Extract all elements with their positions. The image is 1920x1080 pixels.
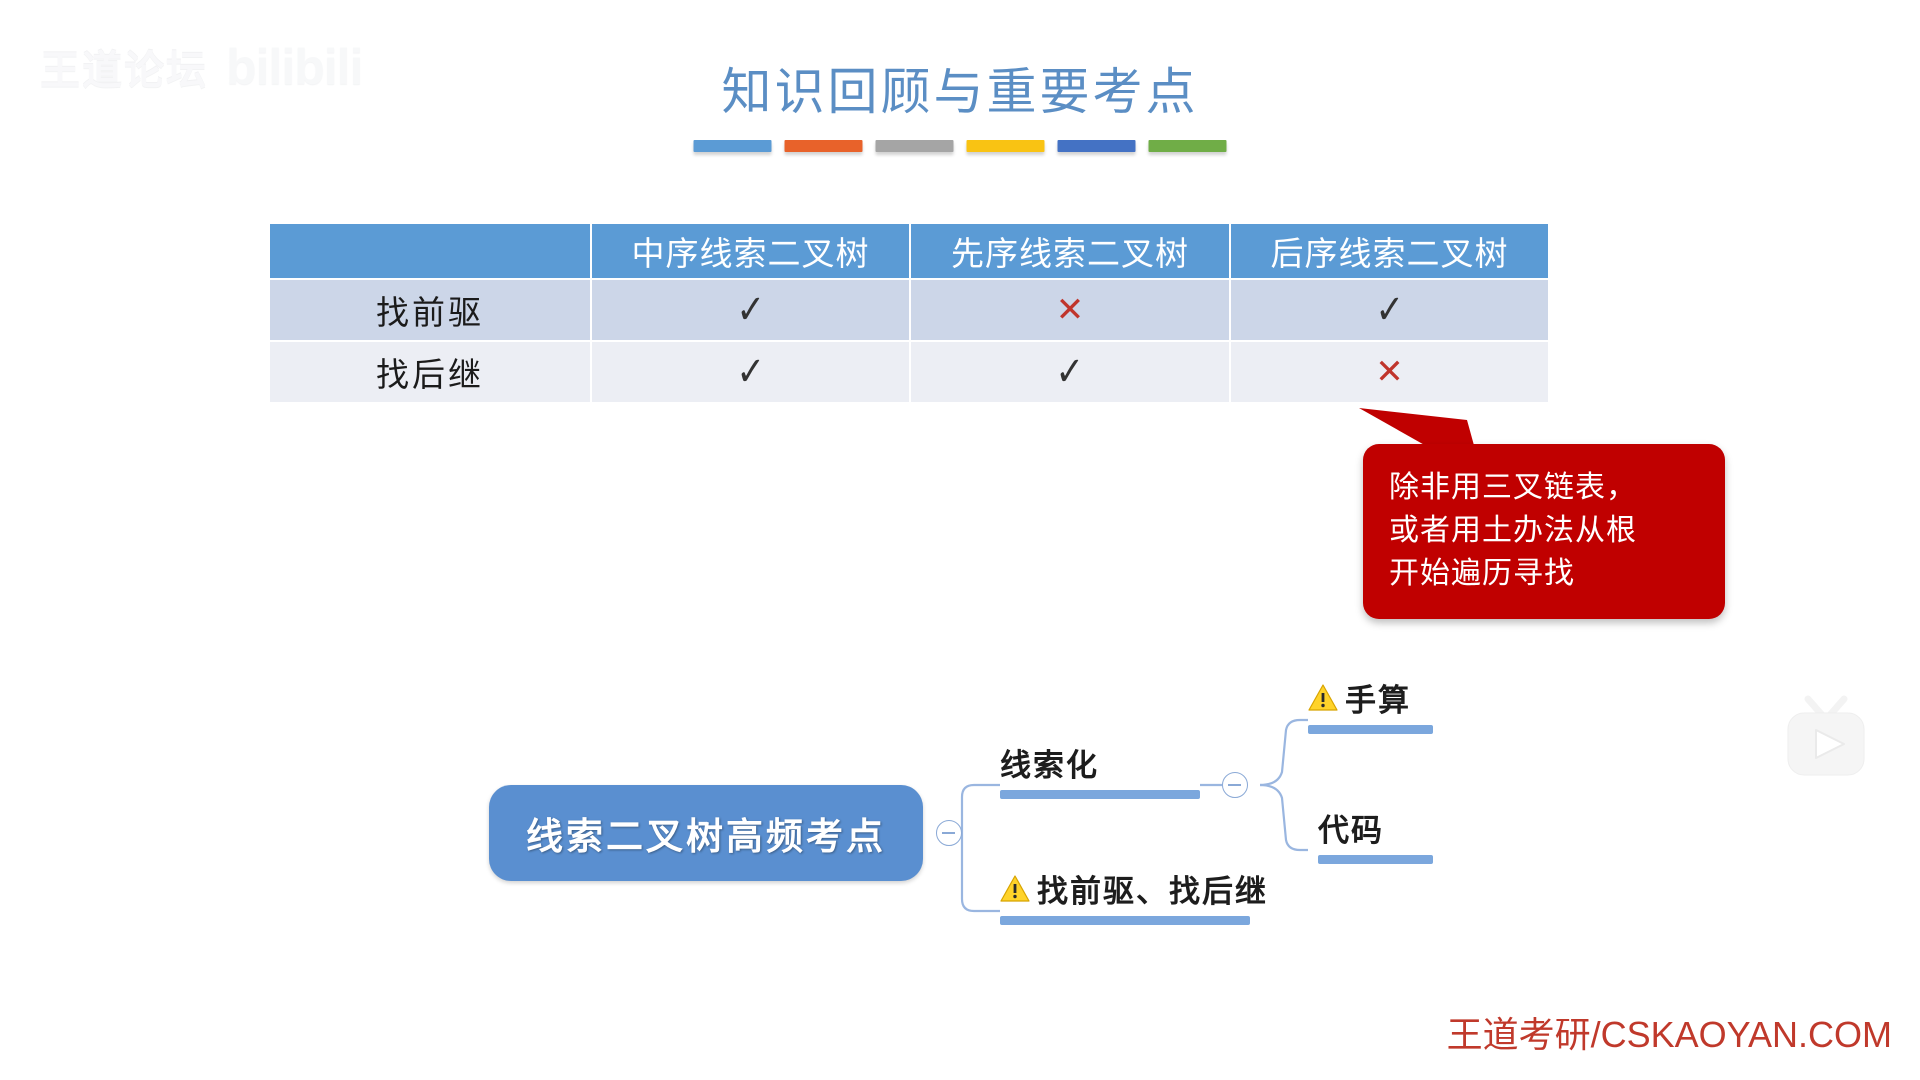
mindmap-node-underline — [1000, 790, 1200, 799]
accent-bar-darkblue — [1058, 140, 1136, 152]
warning-icon — [1308, 684, 1338, 711]
cell-successor-inorder: ✓ — [591, 341, 910, 403]
check-icon: ✓ — [736, 287, 764, 333]
table-row: 找前驱 ✓ ✕ ✓ — [269, 279, 1549, 341]
mindmap-node-threading-label: 线索化 — [1000, 740, 1200, 785]
table-header-inorder: 中序线索二叉树 — [591, 223, 910, 279]
mindmap-node-manual-row: 手算 — [1308, 675, 1433, 720]
mindmap-node-code-label: 代码 — [1318, 805, 1433, 850]
mindmap-node-find-pred-succ-row: 找前驱、找后继 — [1000, 866, 1268, 911]
cell-successor-preorder: ✓ — [910, 341, 1230, 403]
check-icon: ✓ — [1375, 287, 1403, 333]
mindmap-root-node[interactable]: 线索二叉树高频考点 — [489, 785, 923, 881]
accent-bar-green — [1149, 140, 1227, 152]
mindmap-node-underline — [1308, 725, 1433, 734]
accent-bar-blue — [694, 140, 772, 152]
callout-line-1: 除非用三叉链表， — [1389, 466, 1699, 509]
collapse-toggle-threading[interactable] — [1222, 772, 1248, 798]
cell-predecessor-preorder: ✕ — [910, 279, 1230, 341]
row-label-predecessor: 找前驱 — [269, 279, 591, 341]
row-label-successor: 找后继 — [269, 341, 591, 403]
check-icon: ✓ — [736, 349, 764, 395]
table-header-postorder: 后序线索二叉树 — [1230, 223, 1549, 279]
collapse-toggle-root[interactable] — [936, 820, 962, 846]
table-row: 找后继 ✓ ✓ ✕ — [269, 341, 1549, 403]
mindmap-node-threading[interactable]: 线索化 — [1000, 740, 1200, 799]
cell-successor-postorder: ✕ — [1230, 341, 1549, 403]
comparison-table: 中序线索二叉树 先序线索二叉树 后序线索二叉树 找前驱 ✓ ✕ ✓ 找后继 — [268, 222, 1550, 404]
table-header-preorder: 先序线索二叉树 — [910, 223, 1230, 279]
title-accent-bars — [694, 140, 1227, 152]
accent-bar-gray — [876, 140, 954, 152]
page-title: 知识回顾与重要考点 — [0, 52, 1920, 124]
table-header-row: 中序线索二叉树 先序线索二叉树 后序线索二叉树 — [269, 223, 1549, 279]
mindmap-node-code[interactable]: 代码 — [1318, 805, 1433, 864]
cross-icon: ✕ — [1375, 352, 1404, 392]
bilibili-play-watermark — [1778, 695, 1874, 800]
slide-canvas: 王道论坛 bilibili 知识回顾与重要考点 中序线索二叉树 先序线索二叉树 … — [0, 0, 1920, 1080]
check-icon: ✓ — [1056, 349, 1084, 395]
cross-icon: ✕ — [1056, 290, 1085, 330]
warning-icon — [1000, 875, 1030, 902]
table-corner-cell — [269, 223, 591, 279]
cell-predecessor-postorder: ✓ — [1230, 279, 1549, 341]
callout-box: 除非用三叉链表， 或者用土办法从根 开始遍历寻找 — [1363, 444, 1725, 619]
mindmap-node-underline — [1000, 916, 1250, 925]
mindmap-node-underline — [1318, 855, 1433, 864]
mindmap-node-find-pred-succ-label: 找前驱、找后继 — [1037, 866, 1268, 911]
mindmap-node-manual-label: 手算 — [1345, 675, 1411, 720]
callout-line-2: 或者用土办法从根 — [1389, 509, 1699, 552]
footer-watermark: 王道考研/CSKAOYAN.COM — [1447, 1006, 1892, 1058]
mindmap-root-label: 线索二叉树高频考点 — [526, 806, 886, 860]
cell-predecessor-inorder: ✓ — [591, 279, 910, 341]
mindmap: 线索二叉树高频考点 线索化 手算 代码 — [470, 680, 1390, 930]
callout-line-3: 开始遍历寻找 — [1389, 552, 1699, 595]
mindmap-node-manual[interactable]: 手算 — [1308, 675, 1433, 734]
accent-bar-yellow — [967, 140, 1045, 152]
accent-bar-orange — [785, 140, 863, 152]
tv-play-icon — [1778, 695, 1874, 795]
mindmap-node-find-pred-succ[interactable]: 找前驱、找后继 — [1000, 866, 1268, 925]
